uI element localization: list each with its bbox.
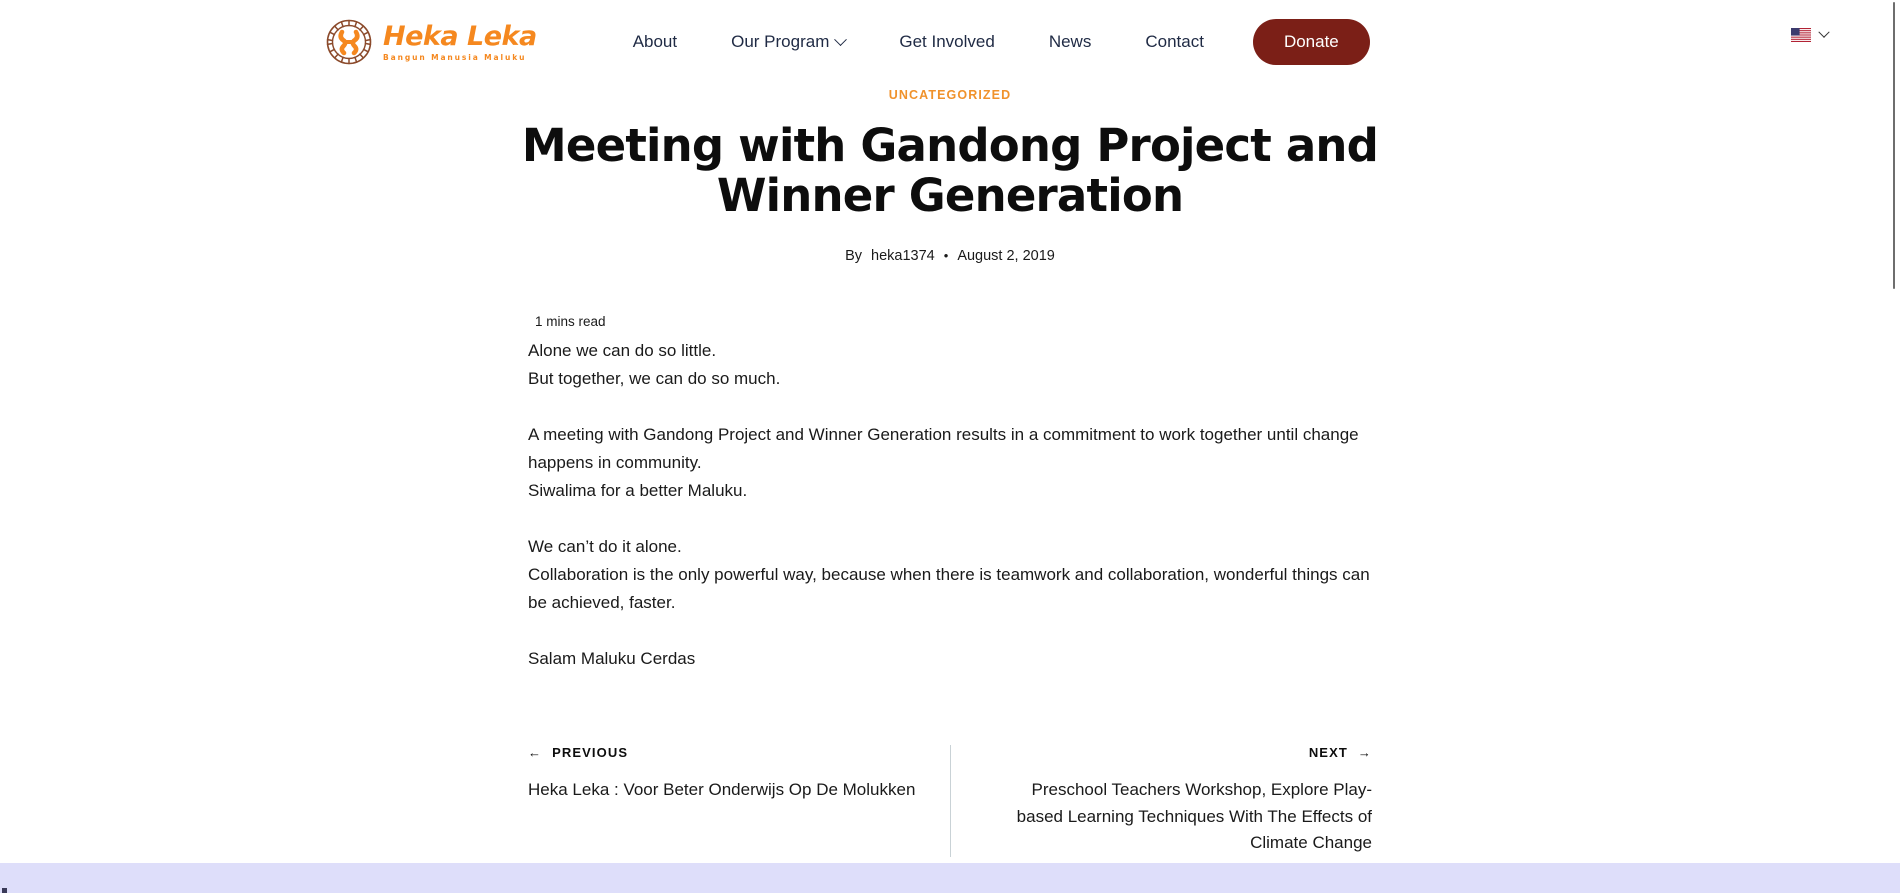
previous-post-link[interactable]: Heka Leka : Voor Beter Onderwijs Op De M… bbox=[528, 777, 916, 804]
next-kicker: NEXT → bbox=[991, 745, 1372, 760]
donate-button[interactable]: Donate bbox=[1253, 19, 1370, 65]
byline-by-prefix: By bbox=[845, 248, 862, 264]
main-navigation: About Our Program Get Involved News Cont… bbox=[606, 19, 1370, 65]
post-paragraph: Alone we can do so little. bbox=[528, 337, 1372, 365]
nav-item-get-involved[interactable]: Get Involved bbox=[872, 24, 1021, 60]
previous-kicker-label: PREVIOUS bbox=[552, 745, 628, 760]
byline: By heka1374 • August 2, 2019 bbox=[0, 248, 1900, 264]
nav-item-news[interactable]: News bbox=[1022, 24, 1119, 60]
next-post-nav[interactable]: NEXT → Preschool Teachers Workshop, Expl… bbox=[950, 745, 1372, 857]
category-link[interactable]: UNCATEGORIZED bbox=[889, 88, 1011, 102]
nav-item-our-program-label: Our Program bbox=[731, 32, 829, 52]
brand-name: Heka Leka bbox=[383, 23, 537, 51]
site-header: Heka Leka Bangun Manusia Maluku About Ou… bbox=[0, 0, 1900, 84]
post-paragraph: Collaboration is the only powerful way, … bbox=[528, 561, 1372, 617]
scrollbar-thumb[interactable] bbox=[1893, 2, 1895, 289]
byline-separator: • bbox=[944, 249, 949, 262]
page-scrollbar[interactable] bbox=[1886, 0, 1900, 893]
nav-item-get-involved-label: Get Involved bbox=[899, 32, 994, 52]
chevron-down-icon bbox=[835, 33, 848, 46]
next-post-link[interactable]: Preschool Teachers Workshop, Explore Pla… bbox=[991, 777, 1372, 857]
arrow-left-icon: ← bbox=[528, 745, 542, 760]
next-kicker-label: NEXT bbox=[1309, 745, 1348, 760]
nav-item-about-label: About bbox=[633, 32, 677, 52]
brand-tagline: Bangun Manusia Maluku bbox=[383, 54, 537, 62]
post-navigation: ← PREVIOUS Heka Leka : Voor Beter Onderw… bbox=[528, 745, 1372, 857]
post-paragraph: But together, we can do so much. bbox=[528, 365, 1372, 393]
byline-date: August 2, 2019 bbox=[957, 248, 1055, 264]
article-header: UNCATEGORIZED Meeting with Gandong Proje… bbox=[0, 84, 1900, 264]
nav-item-our-program[interactable]: Our Program bbox=[704, 24, 872, 60]
nav-item-contact-label: Contact bbox=[1145, 32, 1204, 52]
read-time: 1 mins read bbox=[528, 314, 1372, 329]
arrow-right-icon: → bbox=[1358, 745, 1372, 760]
footer-corner-marker bbox=[2, 888, 7, 893]
brand-logo-link[interactable]: Heka Leka Bangun Manusia Maluku bbox=[325, 18, 537, 66]
us-flag-icon bbox=[1791, 28, 1811, 42]
nav-item-about[interactable]: About bbox=[606, 24, 704, 60]
post-paragraph: A meeting with Gandong Project and Winne… bbox=[528, 421, 1372, 477]
article-container: 1 mins read Alone we can do so little. B… bbox=[528, 264, 1372, 857]
previous-kicker: ← PREVIOUS bbox=[528, 745, 916, 760]
chevron-down-icon bbox=[1818, 27, 1829, 38]
nav-item-contact[interactable]: Contact bbox=[1118, 24, 1231, 60]
previous-post-nav[interactable]: ← PREVIOUS Heka Leka : Voor Beter Onderw… bbox=[528, 745, 950, 857]
byline-author-link[interactable]: heka1374 bbox=[871, 248, 935, 264]
post-body: Alone we can do so little. But together,… bbox=[528, 337, 1372, 673]
post-paragraph: Siwalima for a better Maluku. bbox=[528, 477, 1372, 505]
post-paragraph: Salam Maluku Cerdas bbox=[528, 645, 1372, 673]
language-switcher[interactable] bbox=[1791, 28, 1828, 42]
page-title: Meeting with Gandong Project and Winner … bbox=[510, 121, 1390, 222]
nav-item-news-label: News bbox=[1049, 32, 1092, 52]
heka-leka-circular-logo-icon bbox=[325, 18, 373, 66]
post-paragraph: We can’t do it alone. bbox=[528, 533, 1372, 561]
footer-band bbox=[0, 863, 1900, 893]
